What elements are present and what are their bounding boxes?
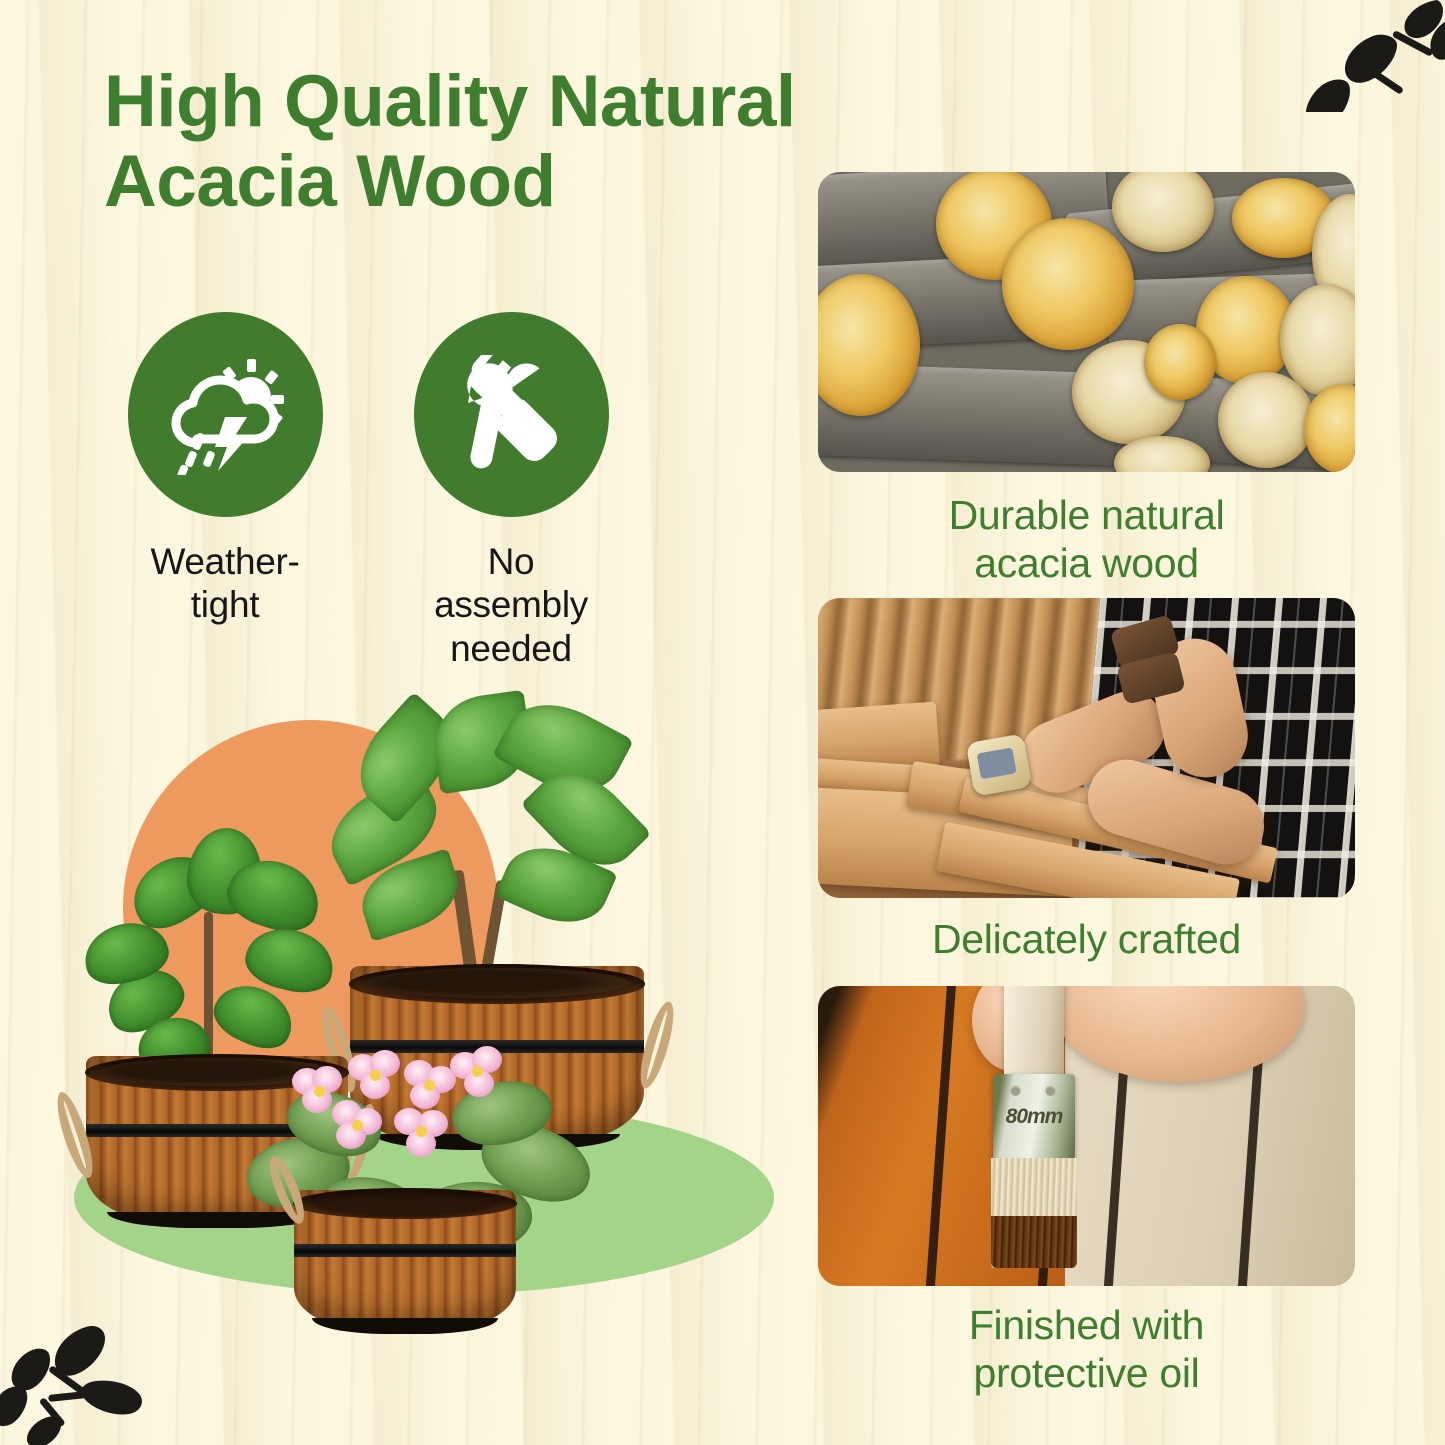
photo-card-delicately-crafted xyxy=(818,598,1355,898)
brush-ferrule: 80mm xyxy=(993,1074,1075,1160)
infographic-page: High Quality Natural Acacia Wood xyxy=(0,0,1445,1445)
storm-cloud-sun-icon xyxy=(163,355,287,475)
badge-circle xyxy=(128,312,323,517)
product-hero xyxy=(58,700,798,1360)
carpenter-measuring-wood-frame-photo xyxy=(818,598,1355,898)
brush-bristles xyxy=(991,1158,1077,1268)
feature-weather-tight: Weather-tight xyxy=(120,312,330,670)
leaf-sprig-top-right-decoration xyxy=(1299,0,1445,117)
pot-rim xyxy=(293,1188,517,1219)
badge-circle xyxy=(414,312,609,517)
leaf-sprig-bottom-left-decoration xyxy=(0,1321,150,1445)
arrowhead-syngonium-plant xyxy=(308,700,648,1000)
photo-caption-durable-wood: Durable natural acacia wood xyxy=(818,492,1355,587)
feature-no-assembly: No assembly needed xyxy=(406,312,616,670)
brush-size-label: 80mm xyxy=(993,1105,1075,1129)
feature-label: No assembly needed xyxy=(406,540,616,670)
photo-caption-delicately-crafted: Delicately crafted xyxy=(818,916,1355,964)
feature-label: Weather-tight xyxy=(120,540,330,627)
tape-measure xyxy=(966,733,1032,796)
wrench-screwdriver-icon xyxy=(450,355,572,475)
feature-badge-list: Weather-tight xyxy=(120,312,616,670)
photo-card-protective-oil: 80mm xyxy=(818,986,1355,1286)
photo-card-acacia-logs xyxy=(818,172,1355,472)
title-line-1: High Quality Natural xyxy=(104,62,984,142)
barrel-planter-small xyxy=(294,1190,516,1330)
brush-bristles-wet xyxy=(991,1216,1077,1268)
pot-base xyxy=(312,1318,498,1334)
paintbrush-oiling-wood-deck-photo: 80mm xyxy=(818,986,1355,1286)
stacked-acacia-logs-photo xyxy=(818,172,1355,472)
photo-caption-protective-oil: Finished with protective oil xyxy=(818,1302,1355,1397)
